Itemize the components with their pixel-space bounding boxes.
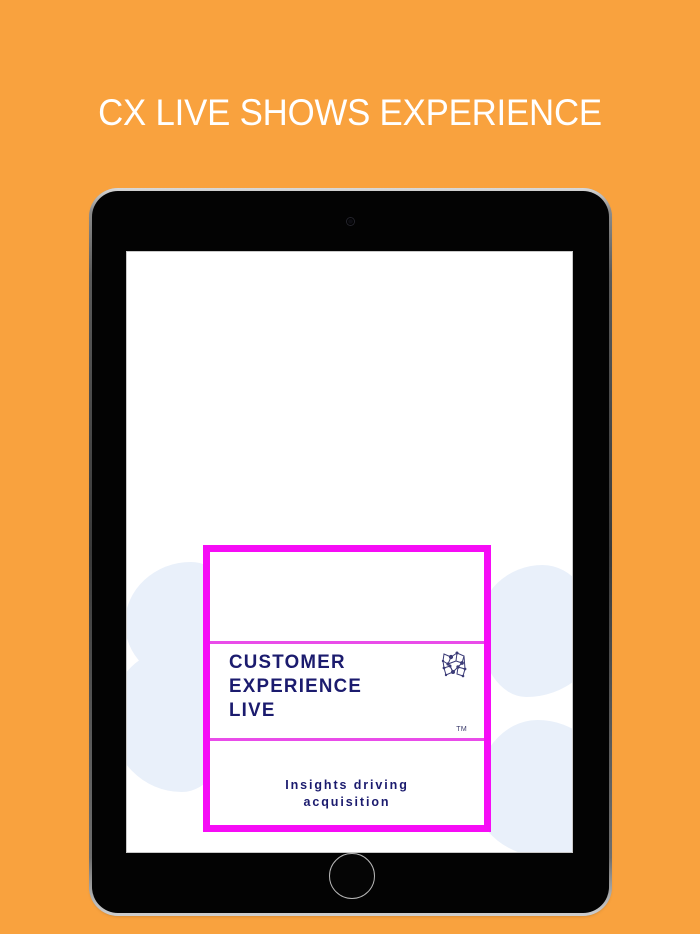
device-screen: CUSTOMER EXPERIENCE LIVE <box>127 252 572 852</box>
home-button-icon[interactable] <box>329 853 375 899</box>
logo-card-top-panel <box>210 552 484 644</box>
logo-card-middle-panel: CUSTOMER EXPERIENCE LIVE <box>210 644 484 741</box>
brand-tagline: Insights driving acquisition <box>210 777 484 811</box>
tablet-device-mockup: CUSTOMER EXPERIENCE LIVE <box>92 191 609 913</box>
headline-line-1: CX LIVE SHOWS EXPERIENCE <box>98 92 602 133</box>
logo-card-bottom-panel: Insights driving acquisition <box>210 741 484 825</box>
brand-logo-card: CUSTOMER EXPERIENCE LIVE <box>203 545 491 832</box>
trademark-mark: TM <box>456 726 467 733</box>
poster-canvas: CX LIVE SHOWS EXPERIENCE WORTH INVESTING… <box>0 0 700 934</box>
device-bezel: CUSTOMER EXPERIENCE LIVE <box>92 191 609 913</box>
network-nodes-icon <box>439 650 469 680</box>
decorative-blob-right-upper <box>479 565 572 697</box>
front-camera-dot-icon <box>347 218 354 225</box>
brand-name: CUSTOMER EXPERIENCE LIVE <box>229 650 362 722</box>
